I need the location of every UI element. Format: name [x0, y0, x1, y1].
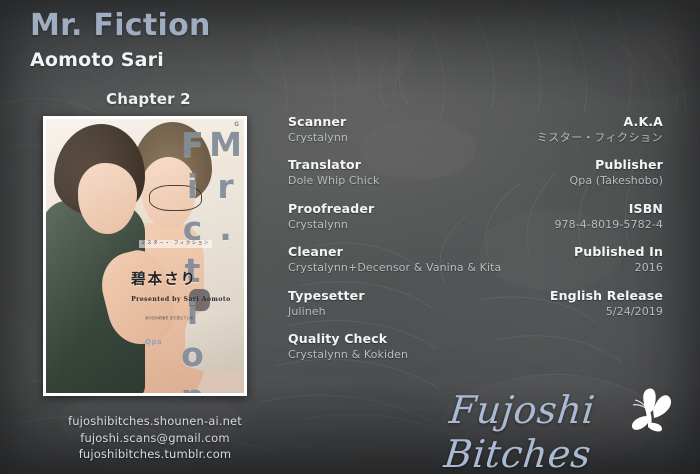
- author-name: Aomoto Sari: [30, 49, 164, 71]
- cover-blurb: あの日の約束を まだ覚えている: [145, 316, 193, 321]
- meta-label: English Release: [423, 288, 663, 304]
- cover-artwork: G Mr. Fiction ミスター・ フィクション 碧本さり Presente…: [46, 119, 244, 393]
- cover-presented-by: Presented by Sari Aomoto: [131, 296, 231, 303]
- credit-row-quality-check: Quality Check Crystalynn & Kokiden: [288, 331, 518, 362]
- meta-value: 978-4-8019-5782-4: [423, 218, 663, 233]
- group-logo-text: Fujoshi Bitches: [407, 388, 632, 474]
- cover-vertical-title: Mr. Fiction: [190, 125, 242, 387]
- meta-row-english-release: English Release 5/24/2019: [423, 288, 663, 319]
- cover-kana-subtitle: ミスター・ フィクション: [139, 240, 212, 249]
- meta-value: Qpa (Takeshobo): [423, 174, 663, 189]
- credits-column-right: A.K.A ミスター・フィクション Publisher Qpa (Takesho…: [423, 114, 663, 319]
- group-logo: Fujoshi Bitches: [412, 382, 682, 458]
- contact-links: fujoshibitches.shounen-ai.net fujoshi.sc…: [30, 413, 280, 463]
- meta-label: Publisher: [423, 157, 663, 173]
- meta-row-published-in: Published In 2016: [423, 244, 663, 275]
- meta-value: ミスター・フィクション: [423, 131, 663, 146]
- manga-cover: G Mr. Fiction ミスター・ フィクション 碧本さり Presente…: [43, 116, 247, 396]
- credit-value: Crystalynn & Kokiden: [288, 348, 518, 363]
- meta-label: ISBN: [423, 201, 663, 217]
- butterfly-icon: [620, 386, 674, 434]
- meta-label: Published In: [423, 244, 663, 260]
- meta-value: 2016: [423, 261, 663, 276]
- meta-row-isbn: ISBN 978-4-8019-5782-4: [423, 201, 663, 232]
- cover-author-jp: 碧本さり: [131, 268, 197, 289]
- credit-label: Quality Check: [288, 331, 518, 347]
- chapter-label: Chapter 2: [106, 90, 191, 108]
- meta-row-publisher: Publisher Qpa (Takeshobo): [423, 157, 663, 188]
- link-tumblr[interactable]: fujoshibitches.tumblr.com: [30, 446, 280, 463]
- meta-label: A.K.A: [423, 114, 663, 130]
- meta-row-aka: A.K.A ミスター・フィクション: [423, 114, 663, 145]
- link-email[interactable]: fujoshi.scans@gmail.com: [30, 430, 280, 447]
- credits-page: Mr. Fiction Aomoto Sari Chapter 2 G Mr. …: [0, 0, 700, 474]
- meta-value: 5/24/2019: [423, 305, 663, 320]
- page-title: Mr. Fiction: [30, 8, 211, 43]
- cover-publisher-mark: Qpa: [145, 338, 162, 346]
- link-website[interactable]: fujoshibitches.shounen-ai.net: [30, 413, 280, 430]
